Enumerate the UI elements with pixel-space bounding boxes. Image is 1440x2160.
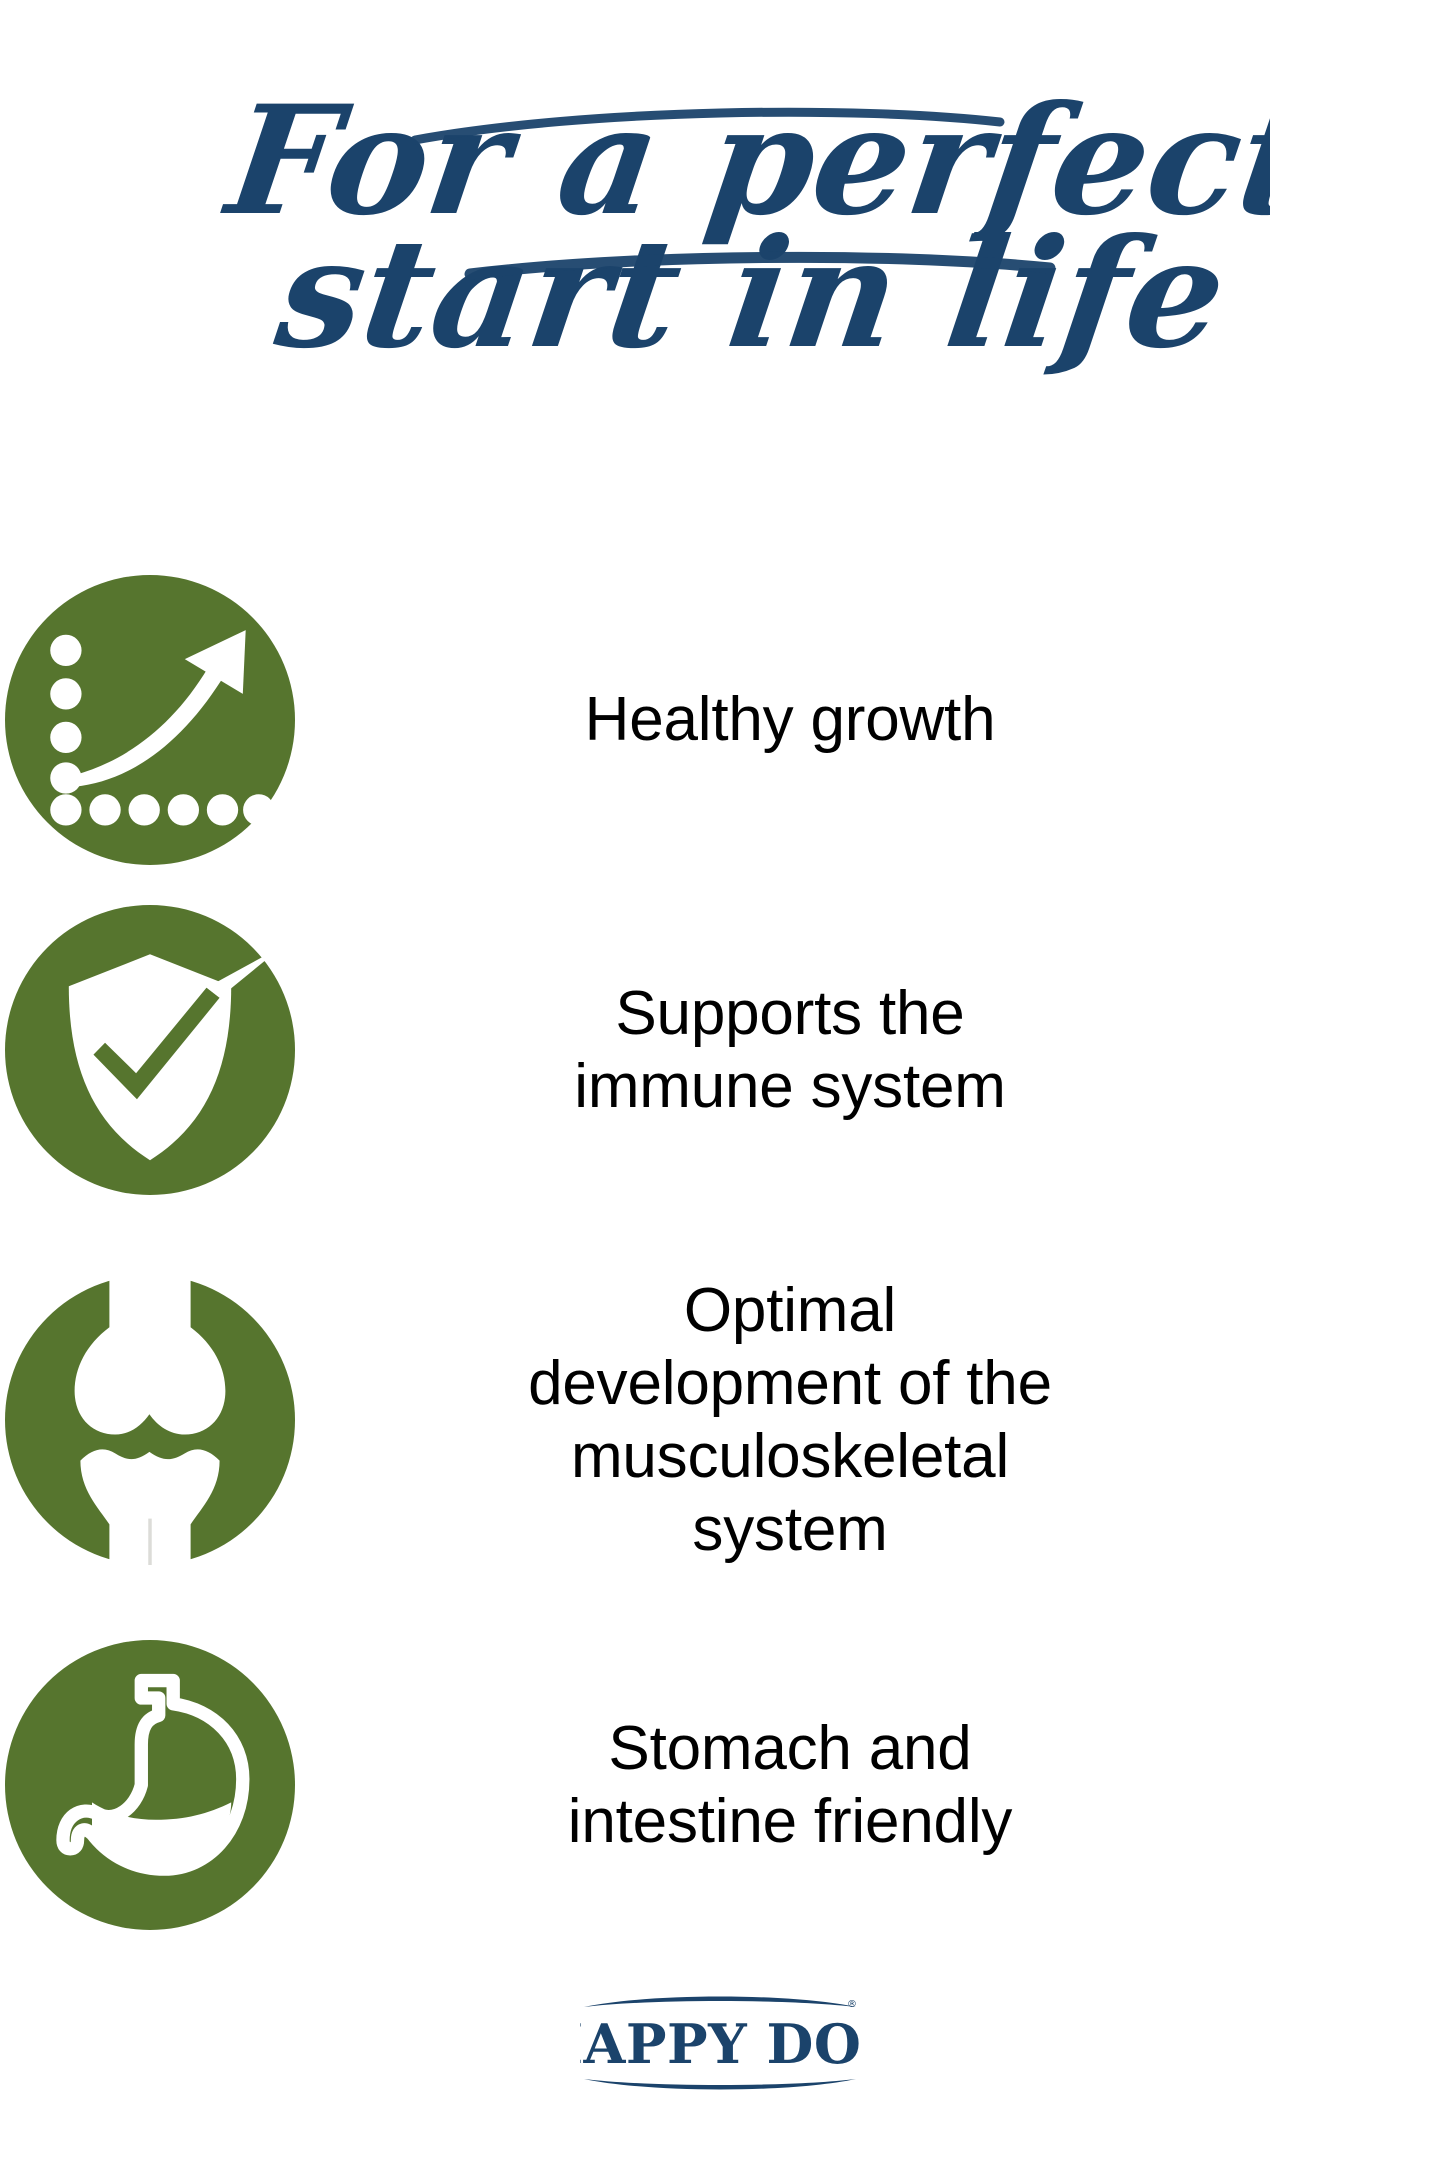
benefit-text-line: Stomach and (300, 1712, 1280, 1785)
headline-line2-text: start in life (267, 205, 1236, 378)
logo-curve-bottom (584, 2079, 856, 2090)
brand-logo: HAPPY DOG ® (0, 1985, 1440, 2095)
benefit-text-line: intestine friendly (300, 1785, 1280, 1858)
benefit-text-line: musculoskeletal (300, 1420, 1280, 1493)
stomach-digestion-icon (5, 1640, 295, 1930)
benefit-label-healthy-growth: Healthy growth (300, 683, 1440, 756)
icon-container-skeletal (0, 1275, 300, 1565)
logo-wordmark-text: HAPPY DOG (580, 2012, 860, 2076)
headline-block: .scr { font-family: "DejaVu Serif", seri… (0, 78, 1440, 378)
icon-container-growth (0, 575, 300, 865)
benefit-text-line: Optimal (300, 1274, 1280, 1347)
knee-joint-bone-icon (5, 1275, 295, 1565)
benefit-row-immune-system: Supports the immune system (0, 880, 1440, 1220)
benefit-text-line: Supports the (300, 977, 1280, 1050)
growth-chart-arrow-icon (5, 575, 295, 865)
benefit-label-musculoskeletal: Optimal development of the musculoskelet… (300, 1274, 1440, 1567)
benefit-row-stomach-intestine: Stomach and intestine friendly (0, 1620, 1440, 1950)
benefit-text-line: system (300, 1493, 1280, 1566)
happy-dog-logo: HAPPY DOG ® (580, 1985, 860, 2095)
benefit-label-immune-system: Supports the immune system (300, 977, 1440, 1123)
benefits-list: Healthy growth Supports the immune syste… (0, 560, 1440, 1950)
benefit-text-line: immune system (300, 1050, 1280, 1123)
benefit-label-stomach-intestine: Stomach and intestine friendly (300, 1712, 1440, 1858)
headline-script-art: .scr { font-family: "DejaVu Serif", seri… (170, 78, 1270, 378)
logo-curve-top (584, 1997, 856, 2008)
benefit-text-line: development of the (300, 1347, 1280, 1420)
benefit-text-line: Healthy growth (300, 683, 1280, 756)
registered-trademark-mark: ® (847, 1999, 857, 2010)
benefit-row-musculoskeletal: Optimal development of the musculoskelet… (0, 1220, 1440, 1620)
shield-checkmark-icon (5, 905, 295, 1195)
icon-container-immune (0, 905, 300, 1195)
icon-container-stomach (0, 1640, 300, 1930)
benefit-row-healthy-growth: Healthy growth (0, 560, 1440, 880)
